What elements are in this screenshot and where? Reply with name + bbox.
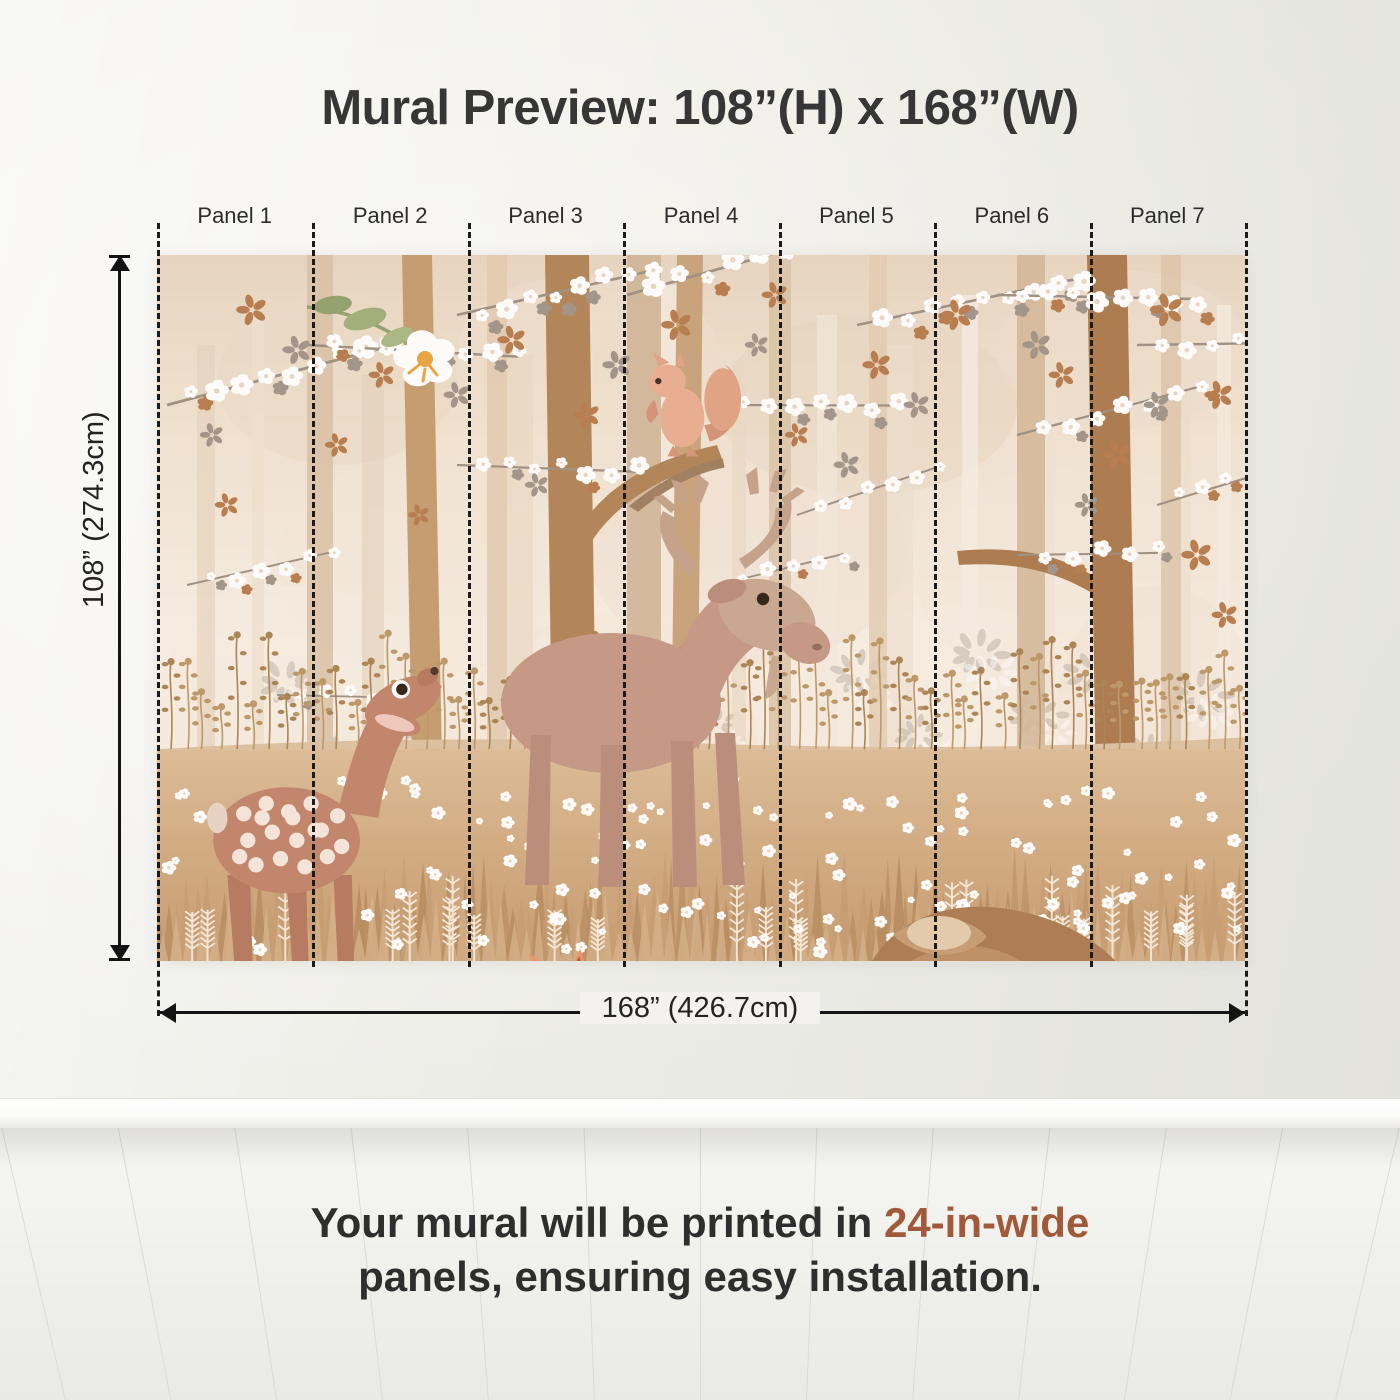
width-label-text: 168” (426.7cm) bbox=[580, 992, 821, 1024]
panel-label-7: Panel 7 bbox=[1130, 203, 1205, 229]
caption-accent-text: 24-in-wide bbox=[884, 1199, 1089, 1246]
panel-label-5: Panel 5 bbox=[819, 203, 894, 229]
panel-label-1: Panel 1 bbox=[197, 203, 272, 229]
panel-divider-extension bbox=[1245, 961, 1248, 1016]
baseboard bbox=[0, 1098, 1400, 1130]
panel-label-2: Panel 2 bbox=[353, 203, 428, 229]
height-label: 108” (274.3cm) bbox=[78, 411, 111, 608]
caption-line-2: panels, ensuring easy installation. bbox=[0, 1250, 1400, 1304]
panel-label-3: Panel 3 bbox=[508, 203, 583, 229]
mural-scene-svg bbox=[157, 255, 1245, 961]
panel-divider bbox=[934, 223, 937, 967]
panel-divider bbox=[157, 223, 160, 967]
panel-divider bbox=[1090, 223, 1093, 967]
panel-divider bbox=[1245, 223, 1248, 967]
caption-line1-text: Your mural will be printed in bbox=[311, 1199, 884, 1246]
panel-label-6: Panel 6 bbox=[975, 203, 1050, 229]
page-title: Mural Preview: 108”(H) x 168”(W) bbox=[0, 80, 1400, 136]
height-dimension-line bbox=[118, 255, 121, 961]
mural-warm-wash bbox=[157, 255, 1245, 961]
caption-line-1: Your mural will be printed in 24-in-wide bbox=[0, 1196, 1400, 1250]
panel-divider bbox=[468, 223, 471, 967]
room-scene: Mural Preview: 108”(H) x 168”(W) Panel 1… bbox=[0, 0, 1400, 1400]
mural-preview: Panel 1Panel 2Panel 3Panel 4Panel 5Panel… bbox=[157, 255, 1245, 961]
footer-caption: Your mural will be printed in 24-in-wide… bbox=[0, 1196, 1400, 1304]
panel-label-4: Panel 4 bbox=[664, 203, 739, 229]
mural-artwork bbox=[157, 255, 1245, 961]
panel-divider-extension bbox=[157, 961, 160, 1016]
panel-divider bbox=[623, 223, 626, 967]
height-arrow-up bbox=[110, 255, 130, 271]
panel-divider bbox=[779, 223, 782, 967]
width-label: 168” (426.7cm) bbox=[0, 992, 1400, 1025]
panel-divider bbox=[312, 223, 315, 967]
height-arrow-down bbox=[110, 945, 130, 961]
